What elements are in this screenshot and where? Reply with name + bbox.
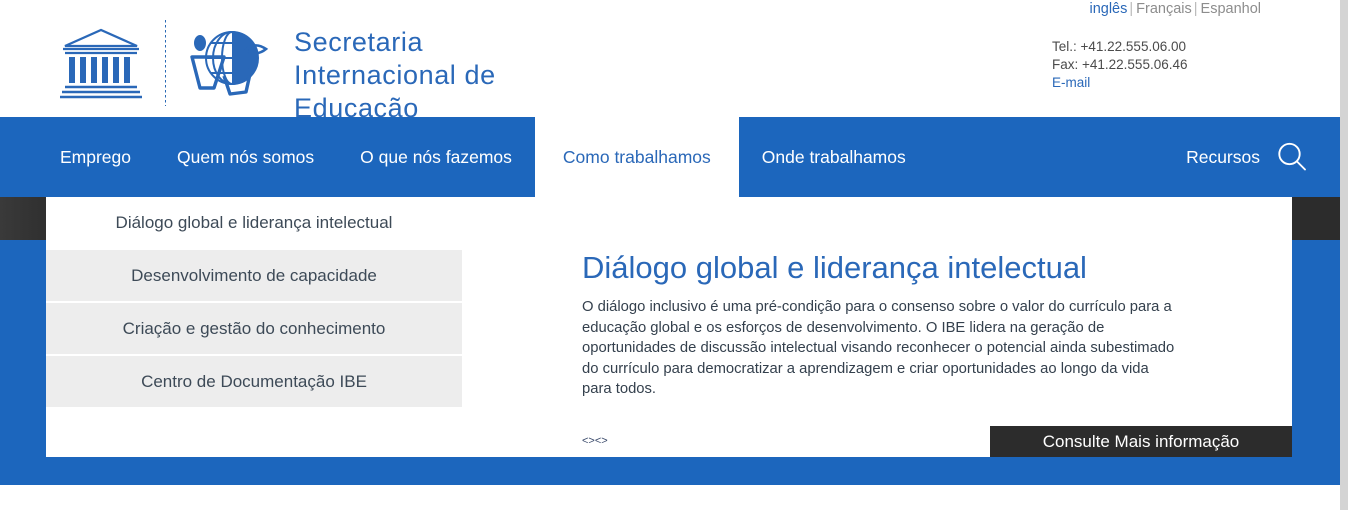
- site-logo[interactable]: Secretaria Internacional de Educação: [55, 14, 496, 125]
- language-link-espanhol[interactable]: Espanhol: [1201, 1, 1261, 17]
- read-more-button[interactable]: Consulte Mais informação: [990, 426, 1292, 457]
- nav-right-group: Recursos: [1149, 117, 1310, 197]
- language-separator-2: |: [1192, 1, 1201, 17]
- nav-item-emprego[interactable]: Emprego: [37, 117, 154, 197]
- carousel-arrows[interactable]: <><>: [582, 435, 608, 447]
- search-icon: [1275, 140, 1309, 174]
- nav-item-como-trabalhamos[interactable]: Como trabalhamos: [535, 117, 739, 197]
- language-link-ingles[interactable]: inglês: [1089, 1, 1127, 17]
- brand-title: Secretaria Internacional de Educação: [294, 26, 496, 125]
- contact-fax: Fax: +41.22.555.06.46 E-mail: [1052, 56, 1202, 92]
- nav-item-list: Emprego Quem nós somos O que nós fazemos…: [0, 117, 929, 197]
- nav-item-onde-trabalhamos[interactable]: Onde trabalhamos: [739, 117, 929, 197]
- page-root: Secretaria Internacional de Educação ing…: [0, 0, 1348, 510]
- nav-item-recursos[interactable]: Recursos: [1186, 147, 1260, 168]
- contact-info: Tel.: +41.22.555.06.00 Fax: +41.22.555.0…: [1052, 38, 1202, 92]
- contact-telephone: Tel.: +41.22.555.06.00: [1052, 38, 1202, 56]
- submenu-item-criacao-e-gestao-do-conhecimento[interactable]: Criação e gestão do conhecimento: [46, 303, 462, 356]
- mega-menu-content-panel: Diálogo global e liderança intelectual O…: [462, 197, 1292, 457]
- submenu-item-desenvolvimento-de-capacidade[interactable]: Desenvolvimento de capacidade: [46, 250, 462, 303]
- language-link-francais[interactable]: Français: [1136, 1, 1192, 17]
- nav-item-o-que-nos-fazemos[interactable]: O que nós fazemos: [337, 117, 535, 197]
- main-navigation: Emprego Quem nós somos O que nós fazemos…: [0, 117, 1340, 197]
- panel-description: O diálogo inclusivo é uma pré-condição p…: [582, 297, 1182, 400]
- panel-title: Diálogo global e liderança intelectual: [582, 249, 1292, 287]
- mega-menu-submenu-list: Diálogo global e liderança intelectual D…: [46, 197, 462, 457]
- utility-bar: inglês|Français|Espanhol Tel.: +41.22.55…: [1030, 0, 1340, 1]
- nav-item-quem-nos-somos[interactable]: Quem nós somos: [154, 117, 337, 197]
- unesco-temple-icon: [55, 24, 147, 104]
- language-separator-1: |: [1127, 1, 1136, 17]
- search-button[interactable]: [1274, 139, 1310, 175]
- submenu-item-centro-de-documentacao-ibe[interactable]: Centro de Documentação IBE: [46, 356, 462, 409]
- site-header: Secretaria Internacional de Educação ing…: [0, 0, 1340, 117]
- contact-fax-number: Fax: +41.22.555.06.46: [1052, 57, 1187, 72]
- page-scrollbar[interactable]: [1340, 0, 1348, 510]
- ibe-globe-icon: [184, 26, 270, 104]
- language-switcher[interactable]: inglês|Français|Espanhol: [1089, 0, 1261, 19]
- submenu-item-dialogo-global[interactable]: Diálogo global e liderança intelectual: [46, 197, 462, 250]
- contact-email-link[interactable]: E-mail: [1052, 75, 1090, 90]
- mega-menu-dropdown: Diálogo global e liderança intelectual D…: [46, 197, 1292, 457]
- brand-divider: [165, 20, 166, 106]
